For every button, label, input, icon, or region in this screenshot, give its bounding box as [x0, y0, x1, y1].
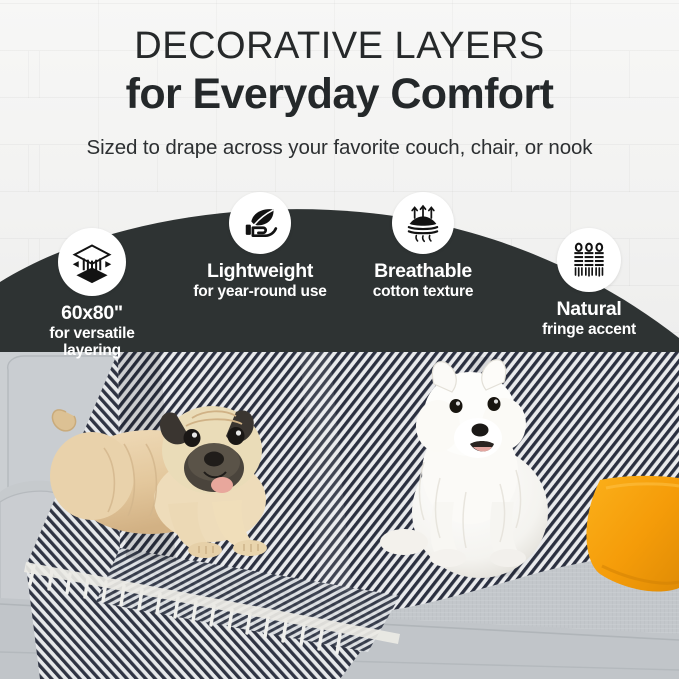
badge-icon-circle: [392, 192, 454, 254]
badge-breathable-sub: cotton texture: [350, 283, 496, 301]
badge-lightweight-sub: for year-round use: [182, 283, 338, 301]
photo-illustration: [0, 352, 679, 679]
headline-secondary: for Everyday Comfort: [0, 67, 679, 118]
badge-size-sub-2: layering: [22, 342, 162, 360]
badge-fringe: Natural fringe accent: [518, 228, 660, 338]
badge-fringe-sub: fringe accent: [518, 321, 660, 339]
badge-breathable: Breathable cotton texture: [350, 192, 496, 300]
fringe-tassels-icon: [570, 241, 608, 279]
badge-lightweight: Lightweight for year-round use: [182, 192, 338, 300]
product-photo: [0, 352, 679, 679]
badge-fringe-title: Natural: [518, 299, 660, 321]
badge-size: 60x80" for versatile layering: [22, 228, 162, 360]
badge-size-sub-1: for versatile: [22, 325, 162, 343]
headline-block: DECORATIVE LAYERS for Everyday Comfort S…: [0, 0, 679, 160]
badge-icon-circle: [557, 228, 621, 292]
promo-image: DECORATIVE LAYERS for Everyday Comfort S…: [0, 0, 679, 679]
breathable-airflow-icon: [403, 203, 443, 243]
headline-primary: DECORATIVE LAYERS: [0, 0, 679, 67]
badge-size-title: 60x80": [22, 303, 162, 325]
layered-fabric-dimensions-icon: [70, 240, 114, 284]
badge-icon-circle: [58, 228, 126, 296]
badge-icon-circle: [229, 192, 291, 254]
badge-lightweight-title: Lightweight: [182, 261, 338, 283]
badge-breathable-title: Breathable: [350, 261, 496, 283]
feather-in-hand-icon: [241, 204, 279, 242]
subheadline: Sized to drape across your favorite couc…: [0, 118, 679, 160]
